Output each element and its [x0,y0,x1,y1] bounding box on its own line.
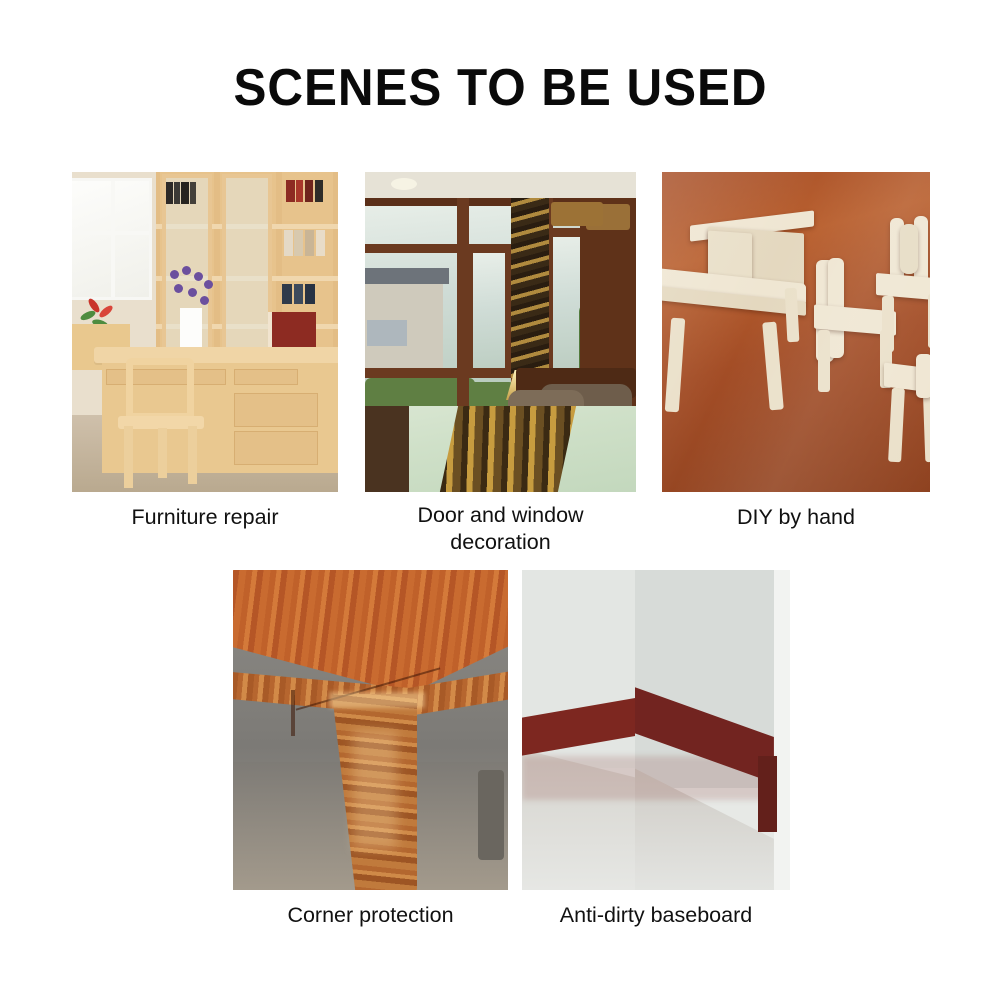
scene-caption-diy-by-hand: DIY by hand [632,504,960,531]
scene-caption-door-and-window-decoration: Door and window decoration [335,502,666,556]
infographic-page: SCENES TO BE USED [0,0,1001,1001]
table-top-surface [233,570,508,694]
curtain [511,198,549,378]
scene-image-furniture-repair [72,172,338,492]
scene-caption-furniture-repair: Furniture repair [42,504,368,531]
flower-arrangement [168,266,216,314]
wall-outer-edge [774,570,790,890]
baseboard-return [758,756,777,833]
background-furniture-leg [478,770,504,860]
scene-image-anti-dirty-baseboard [522,570,790,890]
scene-caption-anti-dirty-baseboard: Anti-dirty baseboard [492,902,820,929]
page-title: SCENES TO BE USED [25,58,976,118]
chair [118,358,204,488]
bed-runner [440,406,576,492]
window [72,178,152,300]
scene-image-diy-by-hand [662,172,930,492]
caption-line-2: decoration [335,529,666,556]
caption-line-1: Door and window [335,502,666,529]
scene-image-door-and-window-decoration [365,172,636,492]
scene-image-corner-protection [233,570,508,890]
scene-caption-corner-protection: Corner protection [203,902,538,929]
vase [180,308,202,348]
floor-sheen [662,172,930,492]
ceiling-light [391,178,417,190]
bed-frame [365,406,409,492]
